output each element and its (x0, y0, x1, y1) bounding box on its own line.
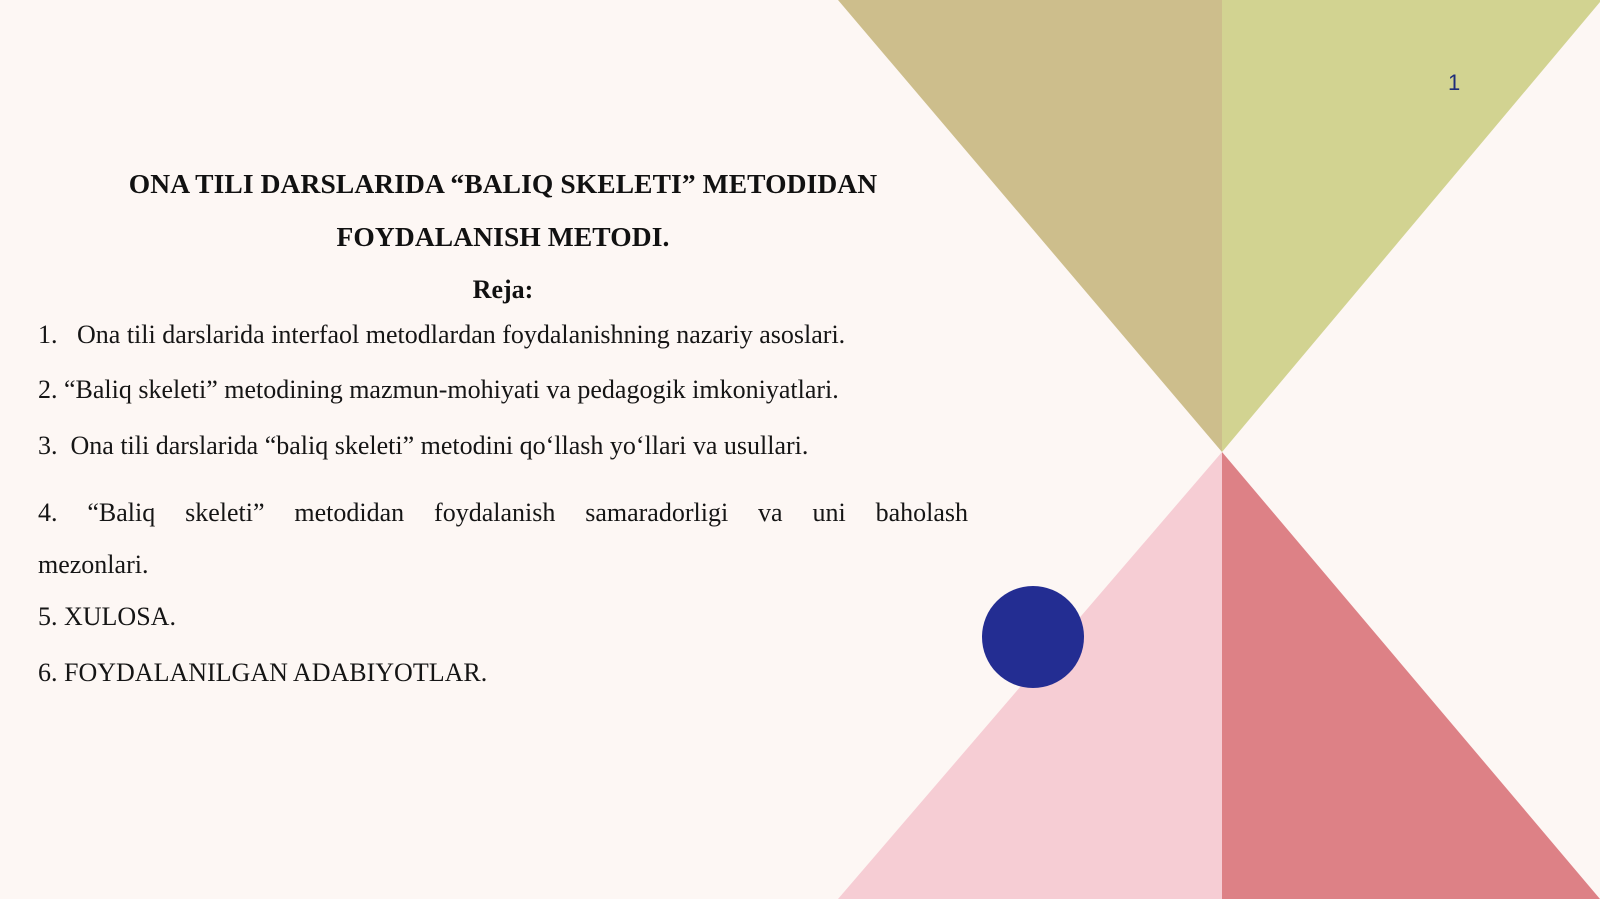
slide-content: ONA TILI DARSLARIDA “BALIQ SKELETI” METO… (38, 158, 968, 715)
plan-list-item: 2. “Baliq skeleti” metodining mazmun-moh… (38, 376, 968, 405)
slide-title-line-1: ONA TILI DARSLARIDA “BALIQ SKELETI” METO… (129, 168, 877, 199)
triangle-bottom-right-icon (1222, 452, 1600, 899)
plan-list-item: 1. Ona tili darslarida interfaol metodla… (38, 321, 968, 350)
plan-list-item: 5. XULOSA. (38, 603, 968, 632)
presentation-slide: 1 ONA TILI DARSLARIDA “BALIQ SKELETI” ME… (0, 0, 1600, 899)
triangle-top-right-icon (1222, 0, 1600, 452)
slide-title-line-2: FOYDALANISH METODI. (337, 221, 670, 252)
plan-list-item: 6. FOYDALANILGAN ADABIYOTLAR. (38, 659, 968, 688)
page-number: 1 (1448, 72, 1460, 94)
slide-subtitle: Reja: (38, 272, 968, 307)
plan-list-item: 3. Ona tili darslarida “baliq skeleti” m… (38, 432, 968, 461)
plan-list-item-line-1: 4. “Baliq skeleti” metodidan foydalanish… (38, 487, 968, 539)
plan-list-item: 4. “Baliq skeleti” metodidan foydalanish… (38, 487, 968, 591)
plan-list: 1. Ona tili darslarida interfaol metodla… (38, 321, 968, 688)
plan-list-item-line-2: mezonlari. (38, 539, 968, 591)
slide-title: ONA TILI DARSLARIDA “BALIQ SKELETI” METO… (38, 158, 968, 264)
blue-circle-accent-icon (982, 586, 1084, 688)
